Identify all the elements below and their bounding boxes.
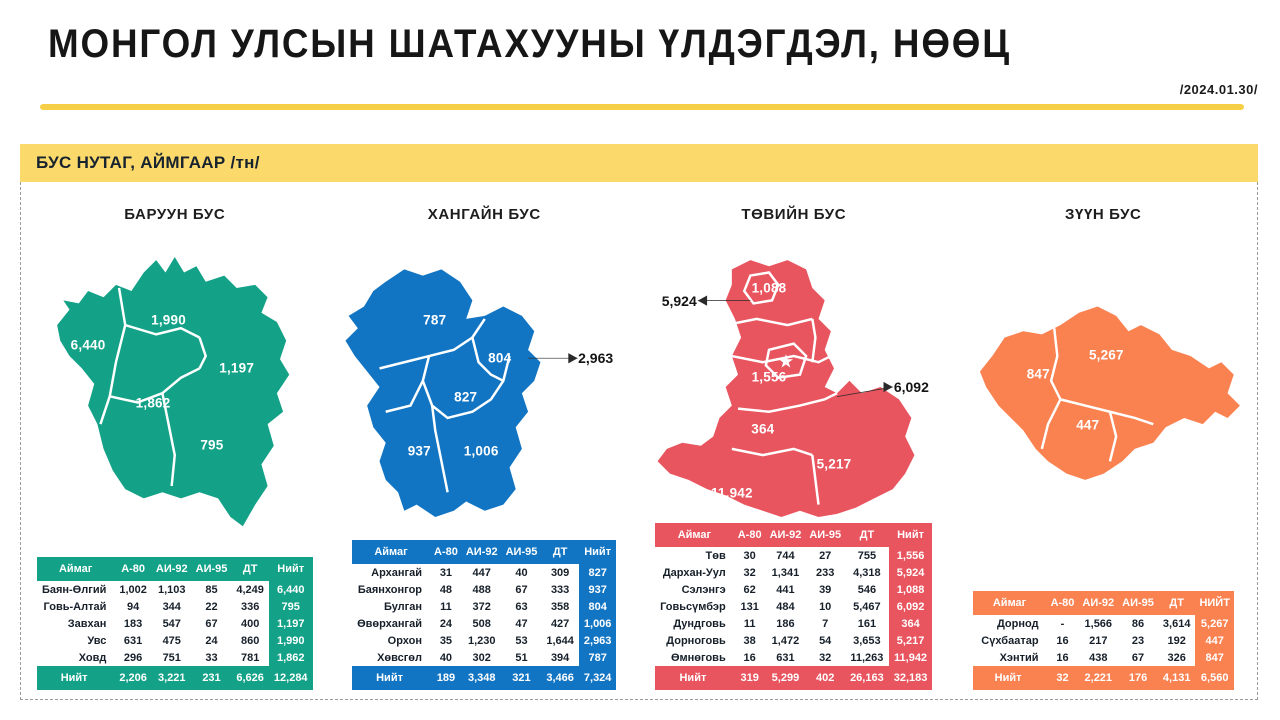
map-value-label: 11,942 (711, 485, 753, 500)
total-value-cell: 402 (805, 666, 845, 690)
column-header: А-80 (114, 557, 152, 581)
row-total-cell: 1,006 (579, 615, 617, 632)
column-header: АИ-95 (502, 540, 542, 564)
value-cell: 30 (734, 547, 766, 564)
value-cell: 11 (430, 598, 462, 615)
value-cell: 547 (152, 615, 192, 632)
region-table: АймагА-80АИ-92АИ-95ДТНийтТөв30744277551,… (655, 523, 932, 690)
row-total-cell: 847 (1195, 649, 1233, 666)
value-cell: 85 (192, 581, 232, 598)
grand-total-cell: 32,183 (889, 666, 933, 690)
province-name-cell: Дархан-Уул (655, 564, 734, 581)
region-table-wrap: АймагА-80АИ-92АИ-95ДТНийтТөв30744277551,… (655, 523, 932, 690)
value-cell: 3,653 (845, 632, 889, 649)
map-value-label: 804 (488, 351, 511, 366)
table-row: Архангай3144740309827 (352, 564, 616, 581)
value-cell: 546 (845, 581, 889, 598)
region-map-shape (330, 227, 640, 547)
column-header: АИ-92 (462, 540, 502, 564)
value-cell: 441 (766, 581, 806, 598)
value-cell: 16 (734, 649, 766, 666)
row-total-cell: 5,267 (1195, 615, 1233, 632)
value-cell: 40 (502, 564, 542, 581)
table-row: Говь-Алтай9434422336795 (37, 598, 313, 615)
total-value-cell: 231 (192, 666, 232, 690)
column-header: АИ-95 (1118, 591, 1158, 615)
value-cell: 22 (192, 598, 232, 615)
value-cell: 372 (462, 598, 502, 615)
total-value-cell: 176 (1118, 666, 1158, 690)
value-cell: - (1047, 615, 1079, 632)
value-cell: 427 (541, 615, 579, 632)
table-row: Завхан183547674001,197 (37, 615, 313, 632)
value-cell: 39 (805, 581, 845, 598)
grand-total-cell: 12,284 (269, 666, 313, 690)
value-cell: 161 (845, 615, 889, 632)
row-total-cell: 11,942 (889, 649, 933, 666)
total-value-cell: 319 (734, 666, 766, 690)
page-title: МОНГОЛ УЛСЫН ШАТАХУУНЫ ҮЛДЭГДЭЛ, НӨӨЦ (48, 22, 1011, 67)
region-columns: БАРУУН БУС6,4401,9901,1971,862795АймагА-… (20, 188, 1258, 700)
row-total-cell: 6,092 (889, 598, 933, 615)
value-cell: 27 (805, 547, 845, 564)
row-total-cell: 5,217 (889, 632, 933, 649)
province-name-cell: Увс (37, 632, 114, 649)
total-value-cell: 2,221 (1078, 666, 1118, 690)
value-cell: 1,644 (541, 632, 579, 649)
province-name-cell: Төв (655, 547, 734, 564)
value-cell: 24 (192, 632, 232, 649)
value-cell: 1,230 (462, 632, 502, 649)
map-value-label: 5,267 (1089, 348, 1124, 363)
map-callout-label: 2,963 (578, 350, 613, 366)
table-header-row: АймагА-80АИ-92АИ-95ДТНийт (655, 523, 932, 547)
province-name-cell: Өвөрхангай (352, 615, 430, 632)
value-cell: 48 (430, 581, 462, 598)
region-map-shape (949, 227, 1259, 547)
total-value-cell: 321 (502, 666, 542, 690)
table-row: Говьсүмбэр131484105,4676,092 (655, 598, 932, 615)
region-map[interactable]: 8475,267447 (949, 227, 1259, 547)
value-cell: 296 (114, 649, 152, 666)
row-total-cell: 6,440 (269, 581, 313, 598)
column-header: Нийт (269, 557, 313, 581)
value-cell: 326 (1158, 649, 1196, 666)
table-header-row: АймагА-80АИ-92АИ-95ДТНийт (352, 540, 616, 564)
value-cell: 394 (541, 649, 579, 666)
column-header: А-80 (734, 523, 766, 547)
capital-star-icon: ★ (778, 351, 795, 372)
column-header: НИЙТ (1195, 591, 1233, 615)
value-cell: 11 (734, 615, 766, 632)
table-row: Сэлэнгэ62441395461,088 (655, 581, 932, 598)
row-total-cell: 1,088 (889, 581, 933, 598)
region-map[interactable]: 7878048279371,0062,963 (330, 227, 640, 547)
region-table: АймагА-80АИ-92АИ-95ДТНийтБаян-Өлгий1,002… (37, 557, 313, 690)
value-cell: 1,566 (1078, 615, 1118, 632)
value-cell: 475 (152, 632, 192, 649)
value-cell: 11,263 (845, 649, 889, 666)
column-header: АИ-95 (805, 523, 845, 547)
value-cell: 488 (462, 581, 502, 598)
value-cell: 447 (462, 564, 502, 581)
value-cell: 186 (766, 615, 806, 632)
province-name-cell: Ховд (37, 649, 114, 666)
total-value-cell: 5,299 (766, 666, 806, 690)
region-table: АймагА-80АИ-92АИ-95ДТНийтАрхангай3144740… (352, 540, 616, 690)
province-name-cell: Дорнод (973, 615, 1047, 632)
map-value-label: 1,006 (464, 444, 499, 459)
value-cell: 67 (1118, 649, 1158, 666)
map-callout-label: 5,924 (662, 293, 697, 309)
province-name-cell: Баянхонгор (352, 581, 430, 598)
column-header: АИ-92 (766, 523, 806, 547)
total-value-cell: 4,131 (1158, 666, 1196, 690)
row-total-cell: 447 (1195, 632, 1233, 649)
value-cell: 10 (805, 598, 845, 615)
table-row: Дундговь111867161364 (655, 615, 932, 632)
row-total-cell: 827 (579, 564, 617, 581)
region-table: АймагА-80АИ-92АИ-95ДТНИЙТДорнод-1,566863… (973, 591, 1234, 690)
map-callout-label: 6,092 (894, 379, 929, 395)
table-row: Баян-Өлгий1,0021,103854,2496,440 (37, 581, 313, 598)
table-row: Ховд296751337811,862 (37, 649, 313, 666)
province-name-cell: Дорноговь (655, 632, 734, 649)
table-row: Баянхонгор4848867333937 (352, 581, 616, 598)
value-cell: 4,318 (845, 564, 889, 581)
value-cell: 508 (462, 615, 502, 632)
table-row: Сүхбаатар1621723192447 (973, 632, 1234, 649)
province-name-cell: Баян-Өлгий (37, 581, 114, 598)
value-cell: 631 (766, 649, 806, 666)
row-total-cell: 2,963 (579, 632, 617, 649)
table-row: Дархан-Уул321,3412334,3185,924 (655, 564, 932, 581)
region-table-wrap: АймагА-80АИ-92АИ-95ДТНийтБаян-Өлгий1,002… (37, 557, 313, 690)
value-cell: 755 (845, 547, 889, 564)
region-map[interactable]: ★1,0881,5563645,21711,9425,9246,092 (639, 227, 949, 547)
column-header: АИ-92 (1078, 591, 1118, 615)
total-value-cell: 189 (430, 666, 462, 690)
region-title: ХАНГАЙН БУС (428, 206, 541, 223)
row-total-cell: 937 (579, 581, 617, 598)
table-row: Орхон351,230531,6442,963 (352, 632, 616, 649)
map-value-label: 827 (454, 389, 477, 404)
map-value-label: 1,197 (219, 360, 254, 375)
total-value-cell: 6,626 (231, 666, 269, 690)
value-cell: 438 (1078, 649, 1118, 666)
map-value-label: 787 (423, 312, 446, 327)
province-name-cell: Дундговь (655, 615, 734, 632)
total-row-label: Нийт (37, 666, 114, 690)
region-map-shape (20, 227, 330, 547)
map-value-label: 1,990 (151, 312, 186, 327)
value-cell: 67 (502, 581, 542, 598)
value-cell: 358 (541, 598, 579, 615)
column-header: Аймаг (37, 557, 114, 581)
province-name-cell: Орхон (352, 632, 430, 649)
value-cell: 63 (502, 598, 542, 615)
value-cell: 16 (1047, 649, 1079, 666)
total-row-label: Нийт (973, 666, 1047, 690)
value-cell: 336 (231, 598, 269, 615)
province-name-cell: Өмнөговь (655, 649, 734, 666)
column-header: Нийт (889, 523, 933, 547)
column-header: ДТ (541, 540, 579, 564)
map-value-label: 1,862 (136, 396, 171, 411)
value-cell: 54 (805, 632, 845, 649)
map-outline (979, 307, 1239, 480)
province-name-cell: Хөвсгөл (352, 649, 430, 666)
table-total-row: Нийт3195,29940226,16332,183 (655, 666, 932, 690)
value-cell: 38 (734, 632, 766, 649)
map-value-label: 1,556 (752, 370, 787, 385)
region-title: ТӨВИЙН БУС (741, 206, 846, 223)
table-row: Өмнөговь166313211,26311,942 (655, 649, 932, 666)
column-header: ДТ (231, 557, 269, 581)
value-cell: 192 (1158, 632, 1196, 649)
map-outline (345, 269, 540, 517)
map-value-label: 795 (200, 437, 223, 452)
province-name-cell: Булган (352, 598, 430, 615)
value-cell: 31 (430, 564, 462, 581)
province-name-cell: Завхан (37, 615, 114, 632)
table-row: Дорноговь381,472543,6535,217 (655, 632, 932, 649)
column-header: Аймаг (973, 591, 1047, 615)
region-table-wrap: АймагА-80АИ-92АИ-95ДТНийтАрхангай3144740… (352, 540, 616, 690)
column-header: ДТ (845, 523, 889, 547)
map-value-label: 847 (1027, 367, 1050, 382)
total-row-label: Нийт (655, 666, 734, 690)
value-cell: 309 (541, 564, 579, 581)
row-total-cell: 1,990 (269, 632, 313, 649)
value-cell: 131 (734, 598, 766, 615)
value-cell: 33 (192, 649, 232, 666)
column-header: АИ-95 (192, 557, 232, 581)
value-cell: 53 (502, 632, 542, 649)
map-outline (57, 257, 289, 526)
region-title: ЗҮҮН БУС (1065, 206, 1141, 223)
value-cell: 484 (766, 598, 806, 615)
grand-total-cell: 7,324 (579, 666, 617, 690)
value-cell: 183 (114, 615, 152, 632)
column-header: ДТ (1158, 591, 1196, 615)
value-cell: 744 (766, 547, 806, 564)
value-cell: 3,614 (1158, 615, 1196, 632)
province-name-cell: Сүхбаатар (973, 632, 1047, 649)
value-cell: 217 (1078, 632, 1118, 649)
table-row: Хэнтий1643867326847 (973, 649, 1234, 666)
table-header-row: АймагА-80АИ-92АИ-95ДТНийт (37, 557, 313, 581)
value-cell: 47 (502, 615, 542, 632)
value-cell: 4,249 (231, 581, 269, 598)
row-total-cell: 787 (579, 649, 617, 666)
value-cell: 24 (430, 615, 462, 632)
value-cell: 86 (1118, 615, 1158, 632)
region-khangai: ХАНГАЙН БУС7878048279371,0062,963АймагА-… (330, 188, 640, 700)
value-cell: 400 (231, 615, 269, 632)
row-total-cell: 1,862 (269, 649, 313, 666)
value-cell: 751 (152, 649, 192, 666)
region-table-wrap: АймагА-80АИ-92АИ-95ДТНИЙТДорнод-1,566863… (973, 591, 1234, 690)
value-cell: 51 (502, 649, 542, 666)
table-row: Өвөрхангай24508474271,006 (352, 615, 616, 632)
value-cell: 302 (462, 649, 502, 666)
map-value-label: 6,440 (71, 338, 106, 353)
table-row: Төв30744277551,556 (655, 547, 932, 564)
table-total-row: Нийт2,2063,2212316,62612,284 (37, 666, 313, 690)
value-cell: 233 (805, 564, 845, 581)
total-row-label: Нийт (352, 666, 430, 690)
map-value-label: 1,088 (752, 280, 787, 295)
table-row: Булган1137263358804 (352, 598, 616, 615)
total-value-cell: 3,348 (462, 666, 502, 690)
row-total-cell: 804 (579, 598, 617, 615)
value-cell: 32 (734, 564, 766, 581)
section-band: БУС НУТАГ, АЙМГААР /тн/ (20, 144, 1258, 182)
total-value-cell: 3,221 (152, 666, 192, 690)
title-divider (40, 104, 1244, 110)
report-date: /2024.01.30/ (1180, 82, 1258, 97)
value-cell: 631 (114, 632, 152, 649)
region-map[interactable]: 6,4401,9901,1971,862795 (20, 227, 330, 547)
value-cell: 62 (734, 581, 766, 598)
province-name-cell: Хэнтий (973, 649, 1047, 666)
value-cell: 16 (1047, 632, 1079, 649)
table-header-row: АймагА-80АИ-92АИ-95ДТНИЙТ (973, 591, 1234, 615)
grand-total-cell: 6,560 (1195, 666, 1233, 690)
section-band-label: БУС НУТАГ, АЙМГААР /тн/ (36, 153, 260, 173)
value-cell: 5,467 (845, 598, 889, 615)
region-zuun: ЗҮҮН БУС8475,267447АймагА-80АИ-92АИ-95ДТ… (949, 188, 1259, 700)
value-cell: 23 (1118, 632, 1158, 649)
total-value-cell: 26,163 (845, 666, 889, 690)
map-value-label: 447 (1076, 418, 1099, 433)
total-value-cell: 2,206 (114, 666, 152, 690)
total-value-cell: 32 (1047, 666, 1079, 690)
value-cell: 344 (152, 598, 192, 615)
province-name-cell: Говьсүмбэр (655, 598, 734, 615)
table-row: Хөвсгөл4030251394787 (352, 649, 616, 666)
column-header: Нийт (579, 540, 617, 564)
row-total-cell: 1,197 (269, 615, 313, 632)
row-total-cell: 795 (269, 598, 313, 615)
column-header: АИ-92 (152, 557, 192, 581)
column-header: А-80 (430, 540, 462, 564)
table-row: Увс631475248601,990 (37, 632, 313, 649)
province-name-cell: Говь-Алтай (37, 598, 114, 615)
value-cell: 40 (430, 649, 462, 666)
province-name-cell: Архангай (352, 564, 430, 581)
region-tuv: ТӨВИЙН БУС★1,0881,5563645,21711,9425,924… (639, 188, 949, 700)
province-name-cell: Сэлэнгэ (655, 581, 734, 598)
value-cell: 1,103 (152, 581, 192, 598)
column-header: Аймаг (352, 540, 430, 564)
row-total-cell: 5,924 (889, 564, 933, 581)
value-cell: 32 (805, 649, 845, 666)
value-cell: 860 (231, 632, 269, 649)
row-total-cell: 364 (889, 615, 933, 632)
value-cell: 94 (114, 598, 152, 615)
value-cell: 7 (805, 615, 845, 632)
region-title: БАРУУН БУС (124, 206, 225, 223)
table-total-row: Нийт1893,3483213,4667,324 (352, 666, 616, 690)
table-total-row: Нийт322,2211764,1316,560 (973, 666, 1234, 690)
value-cell: 35 (430, 632, 462, 649)
value-cell: 1,002 (114, 581, 152, 598)
map-value-label: 937 (408, 444, 431, 459)
column-header: А-80 (1047, 591, 1079, 615)
value-cell: 781 (231, 649, 269, 666)
region-baruun: БАРУУН БУС6,4401,9901,1971,862795АймагА-… (20, 188, 330, 700)
value-cell: 333 (541, 581, 579, 598)
map-value-label: 5,217 (817, 456, 852, 471)
value-cell: 1,341 (766, 564, 806, 581)
table-row: Дорнод-1,566863,6145,267 (973, 615, 1234, 632)
map-value-label: 364 (751, 421, 774, 436)
value-cell: 1,472 (766, 632, 806, 649)
value-cell: 67 (192, 615, 232, 632)
infographic-page: МОНГОЛ УЛСЫН ШАТАХУУНЫ ҮЛДЭГДЭЛ, НӨӨЦ /2… (0, 0, 1280, 720)
total-value-cell: 3,466 (541, 666, 579, 690)
column-header: Аймаг (655, 523, 734, 547)
row-total-cell: 1,556 (889, 547, 933, 564)
